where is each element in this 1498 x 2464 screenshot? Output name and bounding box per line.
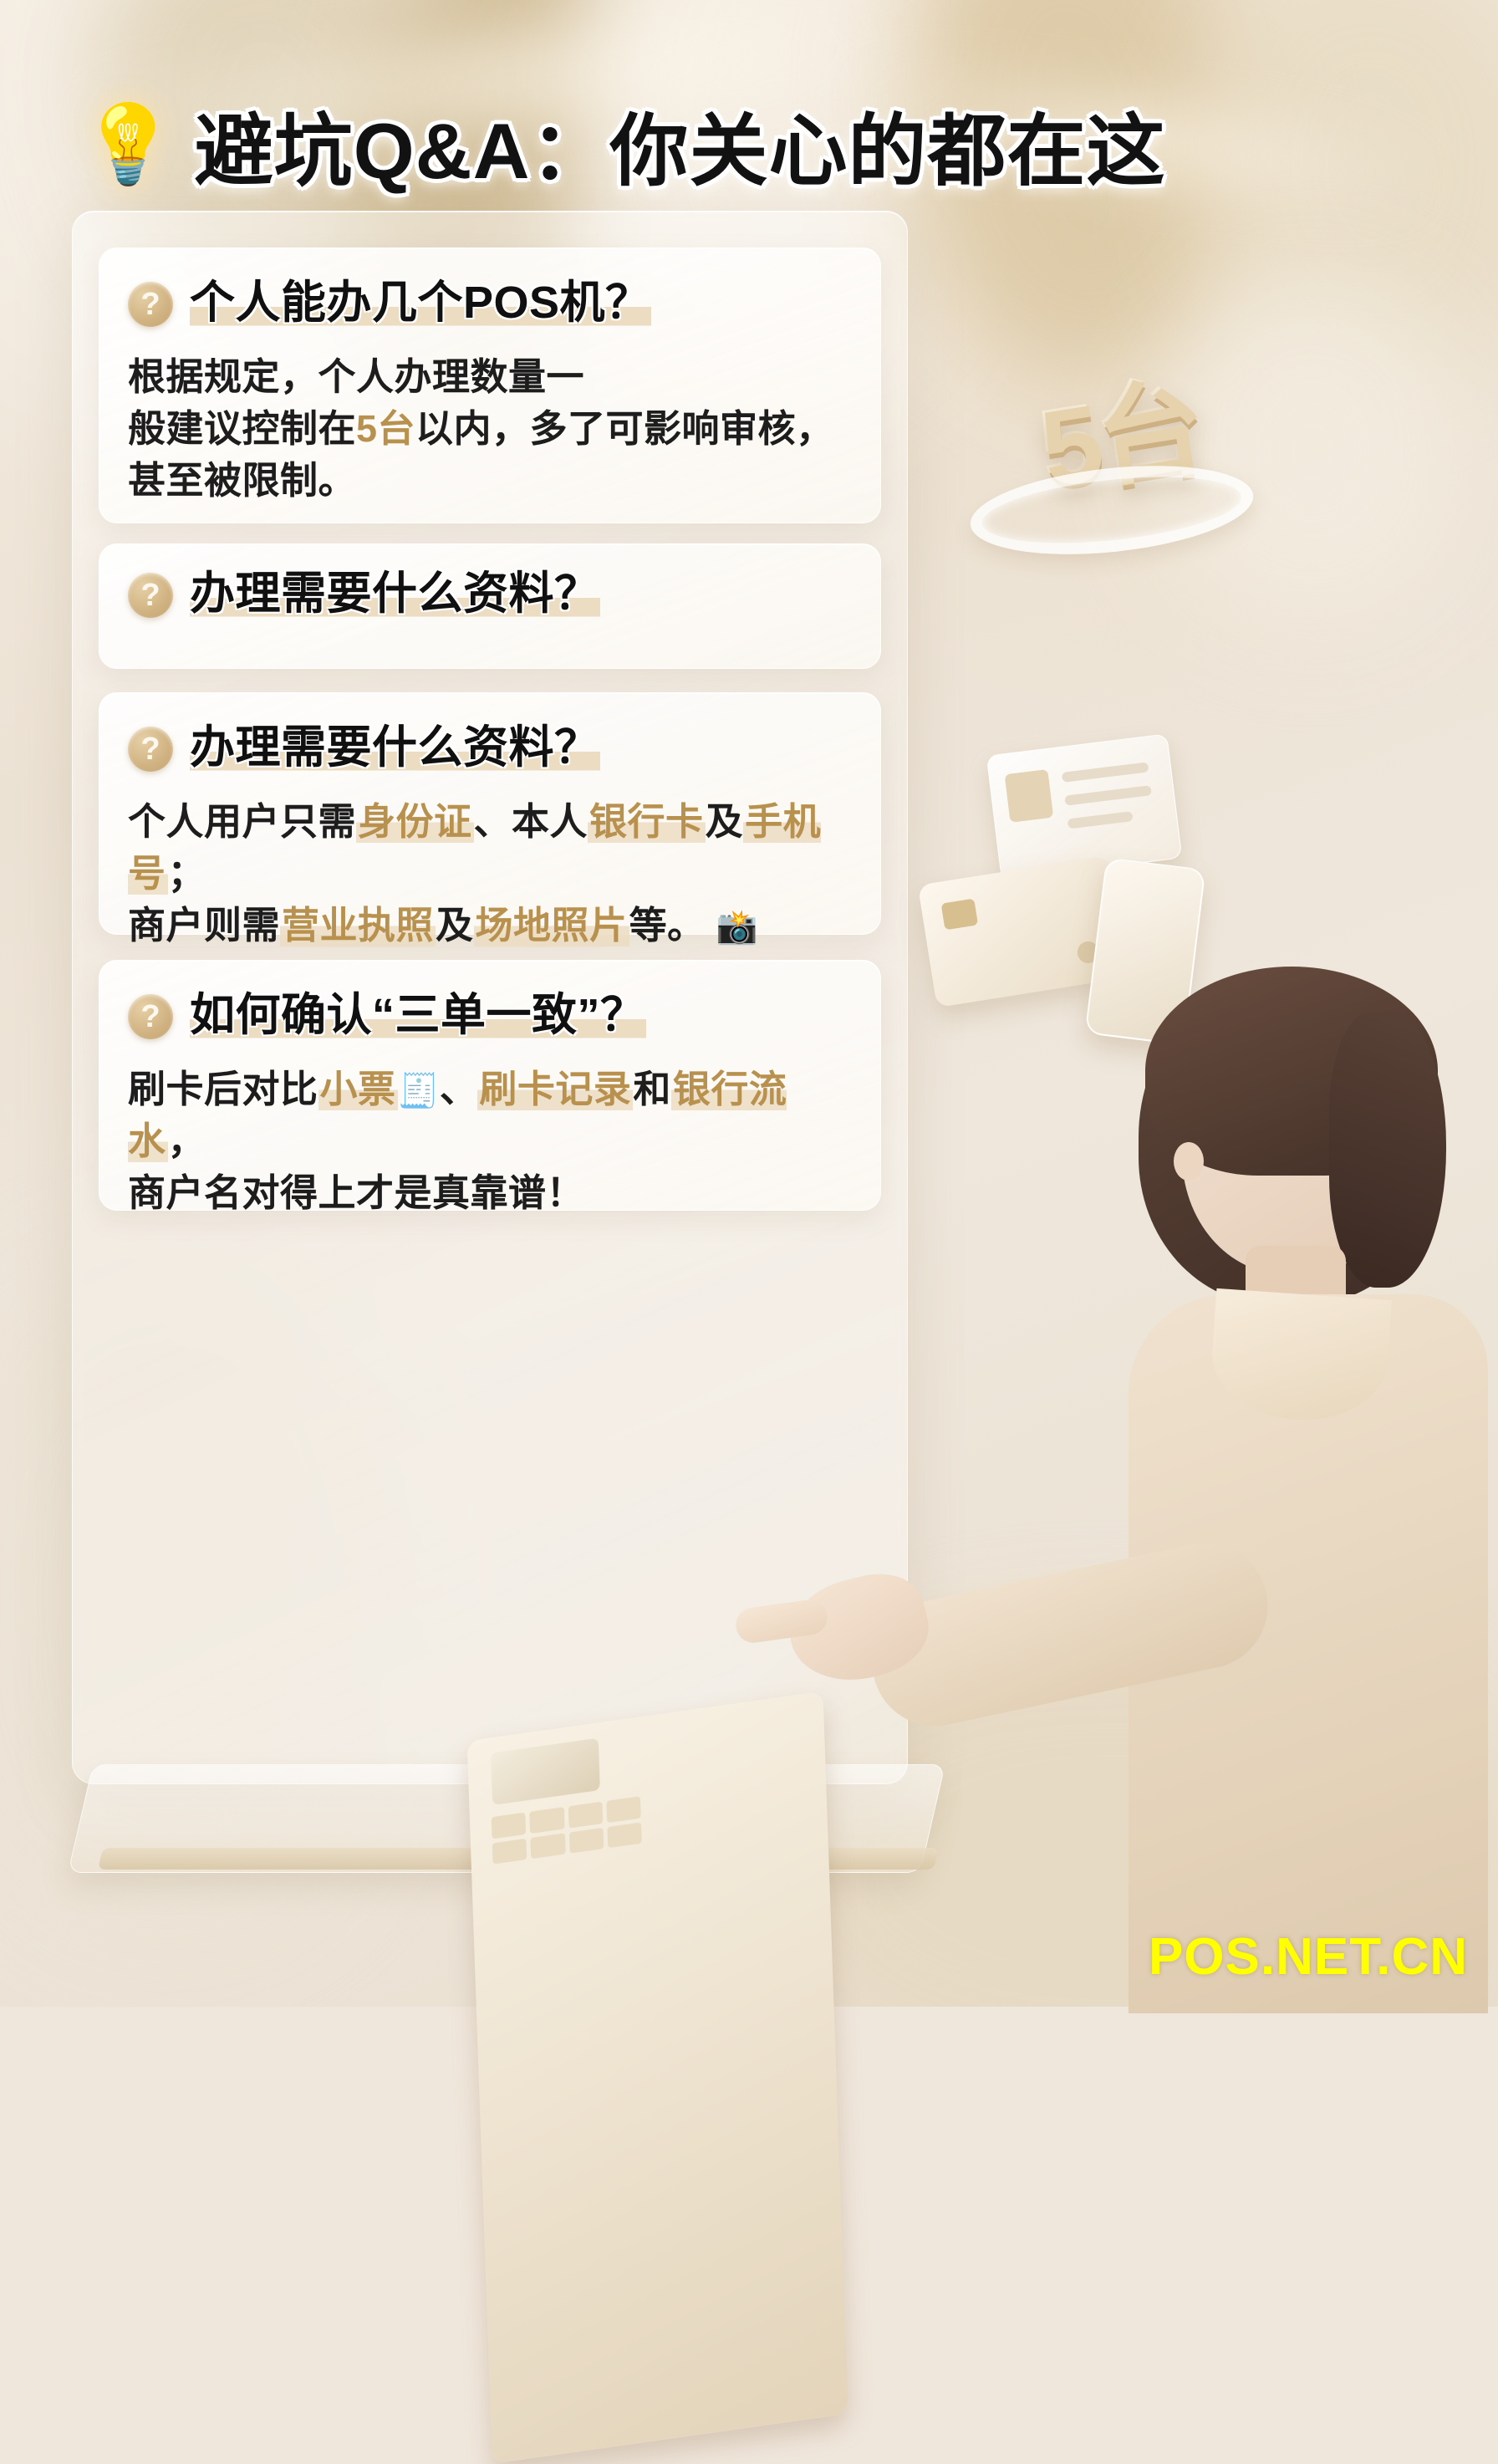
question-text: 如何确认“三单一致”？ — [190, 990, 646, 1040]
question-row: ? 个人能办几个POS机？ — [128, 277, 850, 329]
id-line — [1062, 762, 1149, 783]
question-row: ? 办理需要什么资料？ — [128, 722, 850, 774]
question-badge-icon: ? — [128, 994, 173, 1039]
qa-card[interactable]: ? 个人能办几个POS机？ 根据规定，个人办理数量一 般建议控制在5台以内，多了… — [99, 247, 881, 523]
qa-card[interactable]: ? 如何确认“三单一致”？ 刷卡后对比小票🧾、刷卡记录和银行流水， 商户名对得上… — [99, 960, 881, 1211]
qa-card[interactable]: ? 办理需要什么资料？ 个人用户只需身份证、本人银行卡及手机号； 商户则需营业执… — [99, 692, 881, 935]
answer-line: 甚至被限制。 — [128, 455, 850, 507]
answer-text: 根据规定，个人办理数量一 般建议控制在5台以内，多了可影响审核， 甚至被限制。 — [128, 351, 850, 507]
highlight-keyword: 银行卡 — [588, 800, 706, 843]
question-text: 办理需要什么资料？ — [190, 569, 600, 619]
answer-line: 般建议控制在5台以内，多了可影响审核， — [128, 403, 850, 455]
answer-line: 商户则需营业执照及场地照片等。 📸 — [128, 900, 850, 951]
question-text: 个人能办几个POS机？ — [190, 278, 651, 328]
highlight-keyword: 身份证 — [356, 800, 474, 843]
page-title: 💡 避坑Q&A：你关心的都在这 — [80, 90, 1016, 199]
answer-line: 刷卡后对比小票🧾、刷卡记录和银行流水， — [128, 1064, 850, 1167]
watermark: POS.NET.CN — [1149, 1927, 1468, 1987]
title-text: 避坑Q&A：你关心的都在这 — [195, 88, 1166, 202]
qa-card[interactable]: ? 办理需要什么资料？ — [99, 543, 881, 669]
answer-line: 商户名对得上才是真靠谱！ — [128, 1167, 850, 1219]
answer-text: 刷卡后对比小票🧾、刷卡记录和银行流水， 商户名对得上才是真靠谱！ — [128, 1064, 850, 1219]
answer-line: 根据规定，个人办理数量一 — [128, 351, 850, 403]
highlight-keyword: 刷卡记录 — [477, 1068, 633, 1110]
camera-icon: 📸 — [716, 909, 758, 946]
question-badge-icon: ? — [128, 282, 173, 327]
id-line — [1064, 785, 1152, 806]
highlight-keyword: 银行流水 — [128, 1068, 787, 1162]
highlight-keyword: 营业执照 — [280, 904, 436, 946]
question-row: ? 办理需要什么资料？ — [128, 568, 850, 620]
highlight-keyword: 小票 — [318, 1068, 398, 1110]
question-badge-icon: ? — [128, 573, 173, 618]
card-chip — [941, 899, 979, 931]
receipt-icon: 🧾 — [398, 1073, 440, 1110]
answer-line: 个人用户只需身份证、本人银行卡及手机号； — [128, 796, 850, 900]
highlight-keyword: 场地照片 — [474, 904, 629, 946]
highlight-keyword: 手机号 — [128, 800, 821, 895]
id-photo — [1005, 769, 1054, 823]
question-row: ? 如何确认“三单一致”？ — [128, 989, 850, 1042]
question-text: 办理需要什么资料？ — [190, 722, 600, 773]
ear — [1174, 1142, 1204, 1181]
character-illustration — [1120, 962, 1498, 2007]
terminal-body — [467, 1691, 848, 2464]
highlight-keyword: 5台 — [356, 407, 415, 450]
question-badge-icon: ? — [128, 727, 173, 772]
lightbulb-icon: 💡 — [80, 106, 176, 183]
answer-text: 个人用户只需身份证、本人银行卡及手机号； 商户则需营业执照及场地照片等。 📸 — [128, 796, 850, 951]
id-line — [1067, 811, 1134, 829]
hair-side — [1329, 1012, 1446, 1288]
